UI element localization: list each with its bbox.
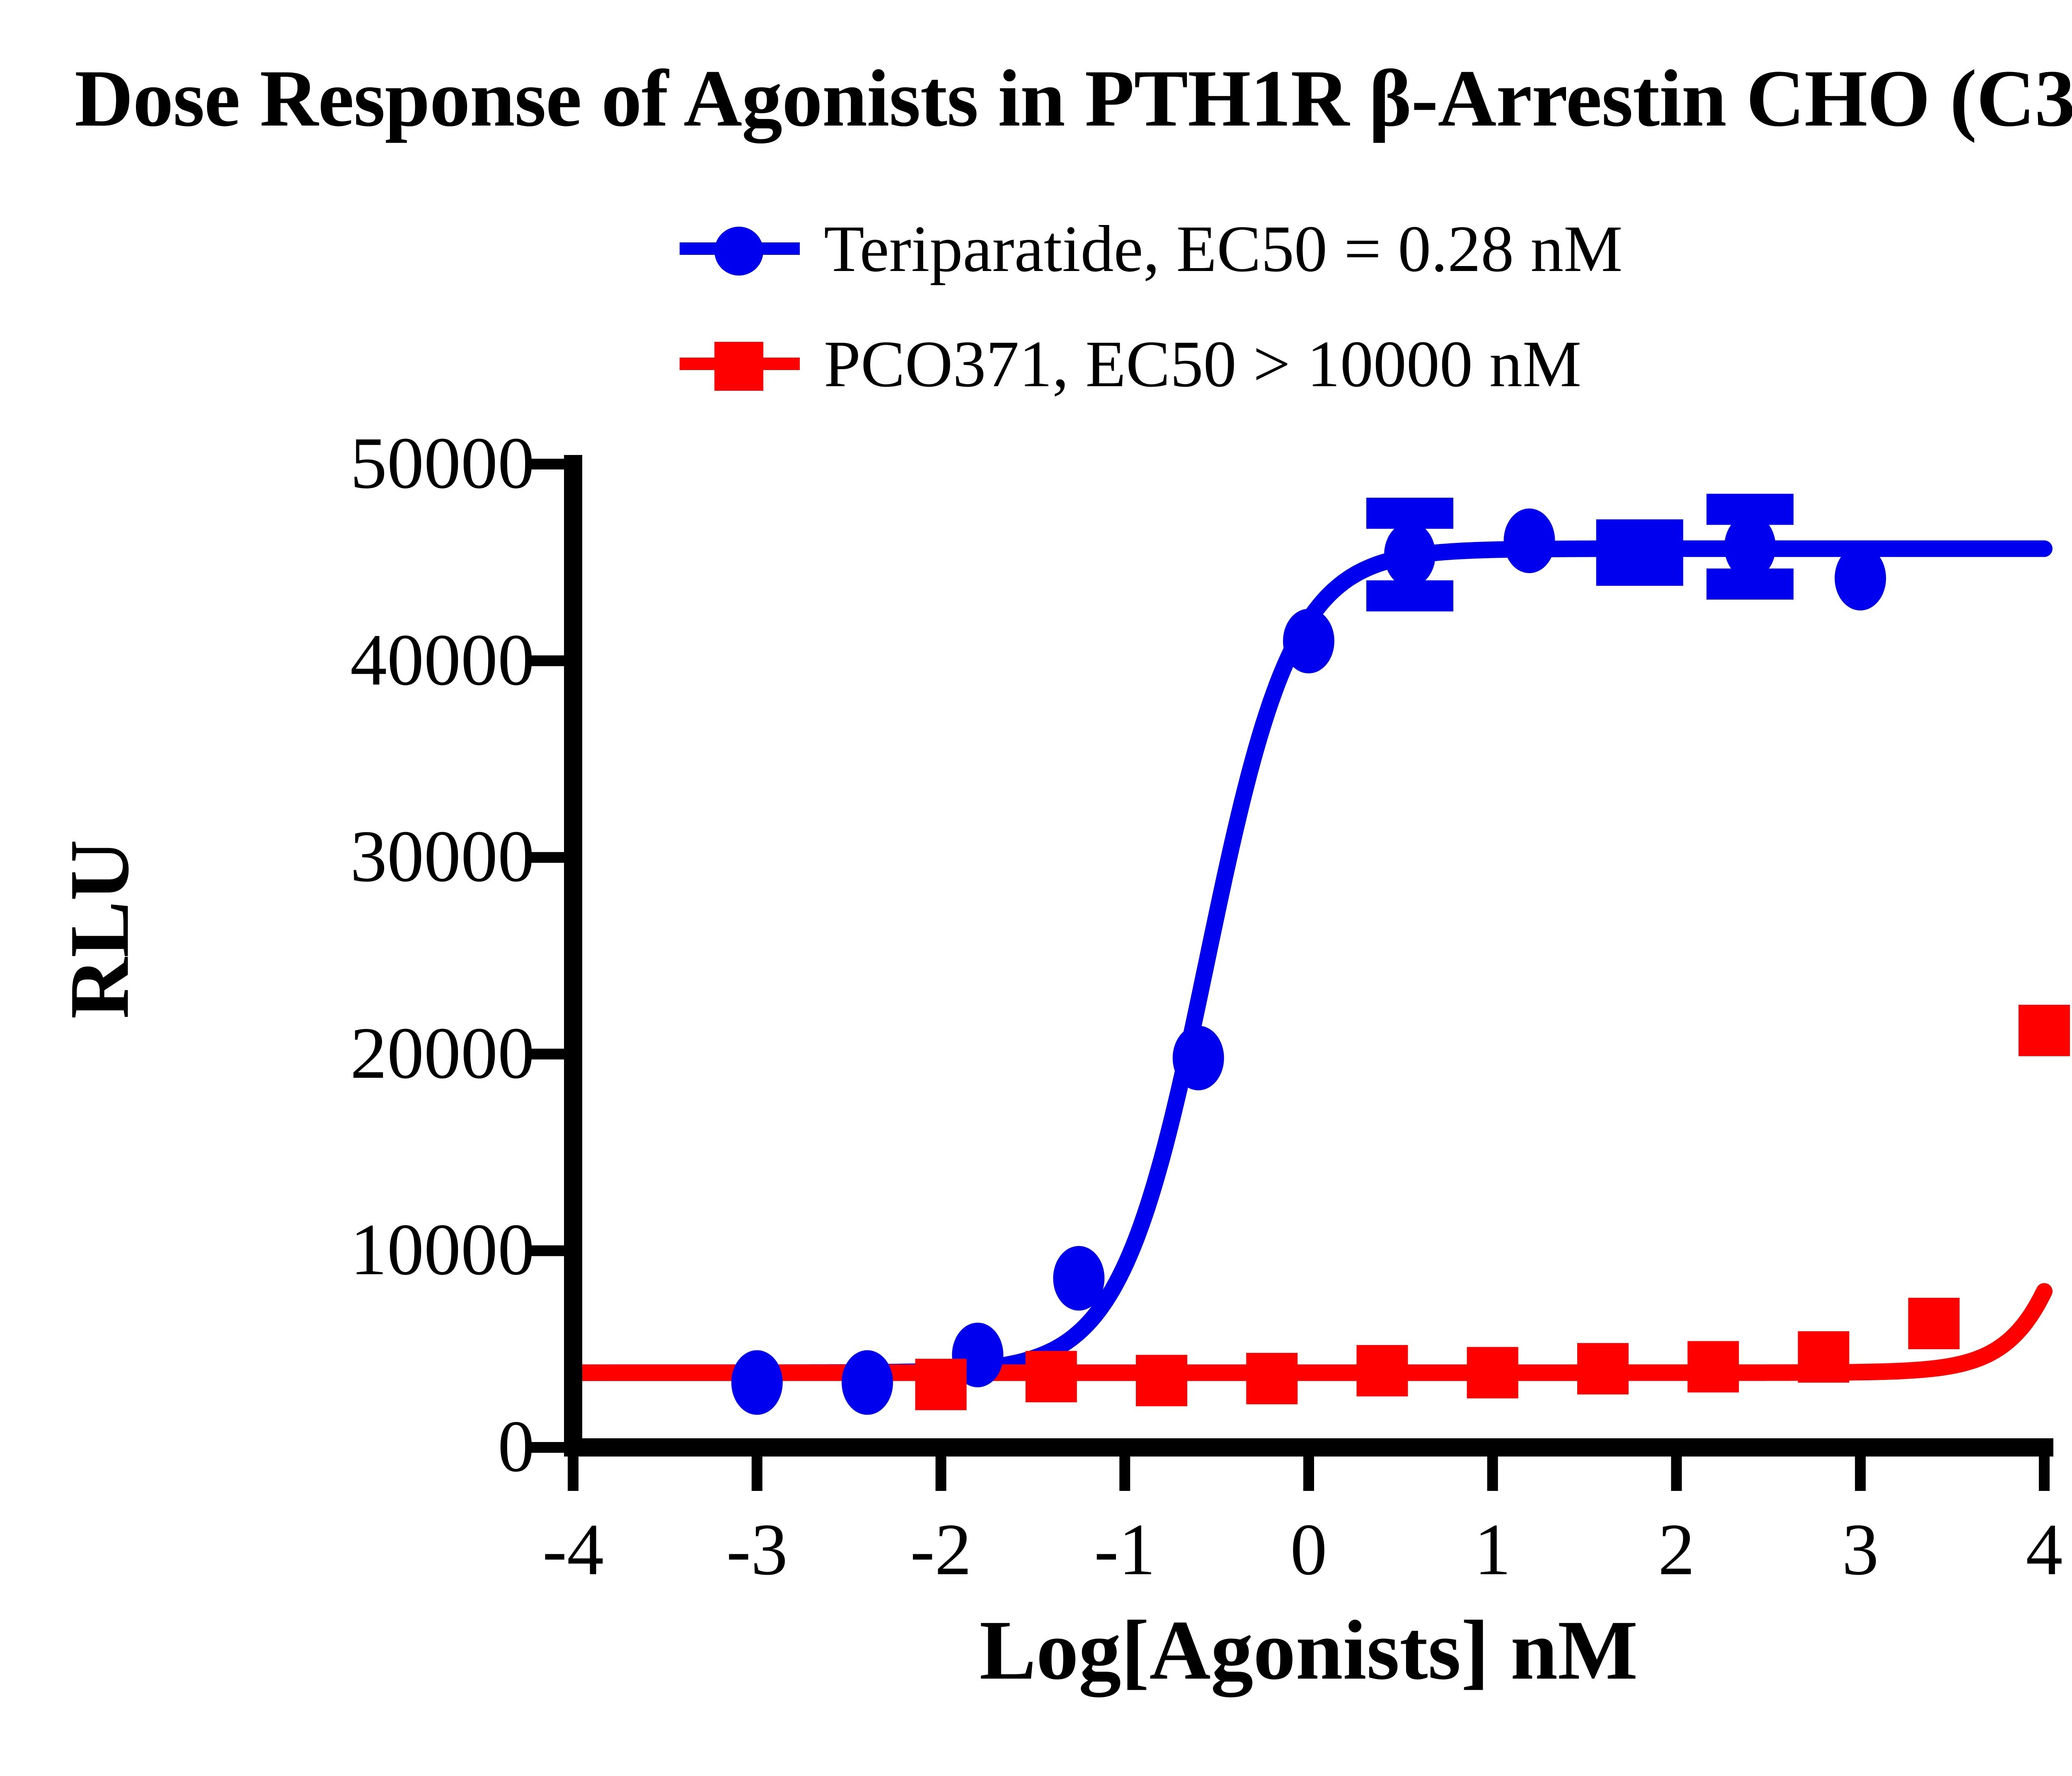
x-axis-tick-label: -2	[910, 1512, 971, 1586]
y-axis-title: RLU	[57, 722, 142, 1137]
dose-response-figure: Dose Response of Agonists in PTH1R β-Arr…	[0, 0, 2072, 1776]
x-axis-tick-label: -3	[726, 1512, 788, 1586]
x-axis-tick-label: 0	[1290, 1512, 1327, 1586]
x-axis-tick-label: -1	[1094, 1512, 1155, 1586]
x-axis-tick-labels: -4-3-2-101234	[0, 0, 2072, 1776]
x-axis-tick-label: 2	[1658, 1512, 1695, 1586]
x-axis-tick-label: 4	[2026, 1512, 2063, 1586]
x-axis-tick-label: 1	[1474, 1512, 1511, 1586]
x-axis-tick-label: -4	[542, 1512, 604, 1586]
x-axis-title: Log[Agonists] nM	[573, 1608, 2044, 1693]
x-axis-tick-label: 3	[1842, 1512, 1879, 1586]
